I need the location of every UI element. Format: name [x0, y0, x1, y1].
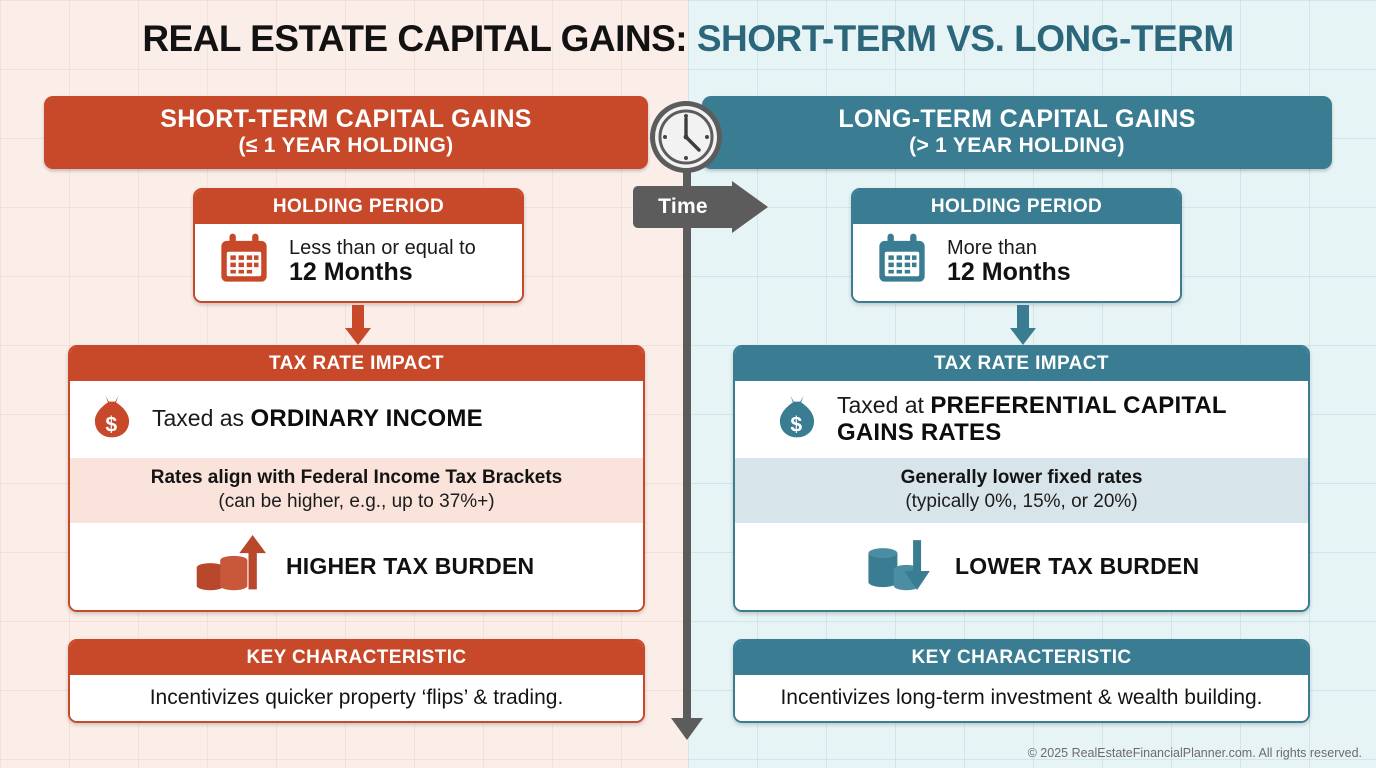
- long-term-tax-burden-text: LOWER TAX BURDEN: [955, 553, 1199, 580]
- long-term-tax-detail-band: Generally lower fixed rates (typically 0…: [735, 458, 1308, 523]
- long-term-tax-detail-line2: (typically 0%, 15%, or 20%): [745, 490, 1298, 515]
- short-term-tax-detail-line1: Rates align with Federal Income Tax Brac…: [80, 466, 633, 490]
- time-arrow-icon: [732, 181, 768, 233]
- calendar-icon: [873, 230, 931, 293]
- short-term-tax-rate-impact-card: TAX RATE IMPACT $ Taxed as ORDINARY INCO…: [68, 345, 645, 612]
- time-direction-banner: Time: [633, 186, 767, 228]
- copyright-footer: © 2025 RealEstateFinancialPlanner.com. A…: [1028, 746, 1362, 760]
- long-term-tax-burden-row: LOWER TAX BURDEN: [735, 523, 1308, 610]
- short-term-holding-big-text: 12 Months: [289, 259, 476, 287]
- short-term-holding-small-text: Less than or equal to: [289, 237, 476, 259]
- short-term-key-characteristic-text: Incentivizes quicker property ‘flips’ & …: [70, 675, 643, 721]
- short-term-tax-detail-band: Rates align with Federal Income Tax Brac…: [70, 458, 643, 523]
- long-term-holding-big-text: 12 Months: [947, 259, 1071, 287]
- timeline-arrowhead-icon: [671, 718, 703, 740]
- long-term-holding-period-card: HOLDING PERIOD More than 12 Months: [851, 188, 1182, 303]
- long-term-column-header: LONG-TERM CAPITAL GAINS (> 1 YEAR HOLDIN…: [702, 96, 1332, 169]
- short-term-tax-detail-line2: (can be higher, e.g., up to 37%+): [80, 490, 633, 515]
- svg-text:$: $: [790, 414, 802, 437]
- long-term-tax-rate-impact-title: TAX RATE IMPACT: [735, 347, 1308, 381]
- timeline-axis: [683, 150, 691, 725]
- coins-up-arrow-icon: [194, 533, 270, 600]
- long-term-holding-small-text: More than: [947, 237, 1071, 259]
- short-term-header-line1: SHORT-TERM CAPITAL GAINS: [160, 106, 532, 133]
- short-term-tax-headline-row: $ Taxed as ORDINARY INCOME: [70, 381, 643, 458]
- long-term-key-characteristic-title: KEY CHARACTERISTIC: [735, 641, 1308, 675]
- long-term-tax-detail-line1: Generally lower fixed rates: [745, 466, 1298, 490]
- long-term-header-line2: (> 1 YEAR HOLDING): [909, 133, 1125, 158]
- short-term-tax-burden-row: HIGHER TAX BURDEN: [70, 523, 643, 610]
- time-label: Time: [658, 195, 708, 219]
- long-term-tax-headline-row: $ Taxed at PREFERENTIAL CAPITAL GAINS RA…: [735, 381, 1308, 458]
- page-title-secondary: SHORT-TERM VS. LONG-TERM: [697, 18, 1234, 59]
- short-term-key-characteristic-card: KEY CHARACTERISTIC Incentivizes quicker …: [68, 639, 645, 723]
- coins-down-arrow-icon: [863, 533, 939, 600]
- long-term-tax-prefix: Taxed at: [837, 392, 930, 418]
- short-term-key-characteristic-title: KEY CHARACTERISTIC: [70, 641, 643, 675]
- short-term-holding-period-title: HOLDING PERIOD: [195, 190, 522, 224]
- long-term-holding-period-title: HOLDING PERIOD: [853, 190, 1180, 224]
- short-term-column-header: SHORT-TERM CAPITAL GAINS (≤ 1 YEAR HOLDI…: [44, 96, 648, 169]
- clock-icon: [648, 99, 724, 175]
- infographic-canvas: REAL ESTATE CAPITAL GAINS: SHORT-TERM VS…: [0, 0, 1376, 768]
- short-term-holding-period-card: HOLDING PERIOD Less than or equal to: [193, 188, 524, 303]
- long-term-connector-arrow-icon: [1010, 305, 1036, 345]
- long-term-header-line1: LONG-TERM CAPITAL GAINS: [838, 106, 1195, 133]
- short-term-tax-emphasis: ORDINARY INCOME: [250, 405, 482, 432]
- short-term-tax-rate-impact-title: TAX RATE IMPACT: [70, 347, 643, 381]
- money-bag-icon: $: [771, 391, 823, 448]
- svg-text:$: $: [105, 414, 117, 437]
- long-term-tax-rate-impact-card: TAX RATE IMPACT $ Taxed at PREFERENTIAL …: [733, 345, 1310, 612]
- short-term-connector-arrow-icon: [345, 305, 371, 345]
- long-term-key-characteristic-text: Incentivizes long-term investment & weal…: [735, 675, 1308, 721]
- long-term-key-characteristic-card: KEY CHARACTERISTIC Incentivizes long-ter…: [733, 639, 1310, 723]
- calendar-icon: [215, 230, 273, 293]
- short-term-header-line2: (≤ 1 YEAR HOLDING): [239, 133, 454, 158]
- short-term-tax-burden-text: HIGHER TAX BURDEN: [286, 553, 534, 580]
- page-title: REAL ESTATE CAPITAL GAINS: SHORT-TERM VS…: [0, 18, 1376, 60]
- short-term-tax-prefix: Taxed as: [152, 405, 250, 431]
- page-title-primary: REAL ESTATE CAPITAL GAINS:: [142, 18, 687, 59]
- money-bag-icon: $: [86, 391, 138, 448]
